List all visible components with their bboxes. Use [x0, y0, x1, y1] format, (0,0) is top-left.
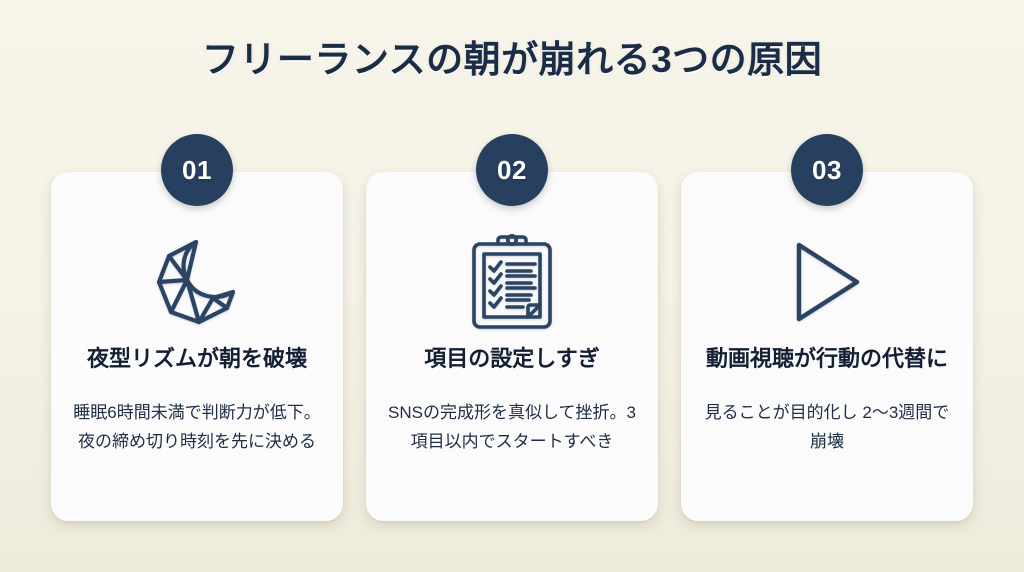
infographic-canvas: フリーランスの朝が崩れる3つの原因 01 夜型リ — [0, 0, 1024, 572]
number-badge-label: 01 — [182, 157, 212, 183]
crescent-moon-icon — [51, 230, 343, 334]
reason-card-3: 03 動画視聴が行動の代替に 見ることが目的化し 2〜3週間で崩壊 — [681, 172, 973, 521]
cards-row: 01 夜型リズムが朝を破壊 睡眠6時間未満で判断力が低下。夜の締め切り時刻を先に… — [51, 172, 973, 521]
card-title: 動画視聴が行動の代替に — [693, 344, 961, 374]
play-triangle-icon — [681, 230, 973, 334]
card-body: 睡眠6時間未満で判断力が低下。夜の締め切り時刻を先に決める — [73, 398, 321, 456]
number-badge-1: 01 — [161, 134, 233, 206]
reason-card-1: 01 夜型リズムが朝を破壊 睡眠6時間未満で判断力が低下。夜の締め切り時刻を先に… — [51, 172, 343, 521]
card-body: SNSの完成形を真似して挫折。3項目以内でスタートすべき — [388, 398, 636, 456]
card-body: 見ることが目的化し 2〜3週間で崩壊 — [703, 398, 951, 456]
page-title: フリーランスの朝が崩れる3つの原因 — [0, 36, 1024, 84]
card-title: 夜型リズムが朝を破壊 — [63, 344, 331, 374]
number-badge-label: 02 — [497, 157, 527, 183]
reason-card-2: 02 — [366, 172, 658, 521]
clipboard-checklist-icon — [366, 230, 658, 334]
number-badge-2: 02 — [476, 134, 548, 206]
card-title: 項目の設定しすぎ — [378, 344, 646, 374]
number-badge-label: 03 — [812, 157, 842, 183]
number-badge-3: 03 — [791, 134, 863, 206]
